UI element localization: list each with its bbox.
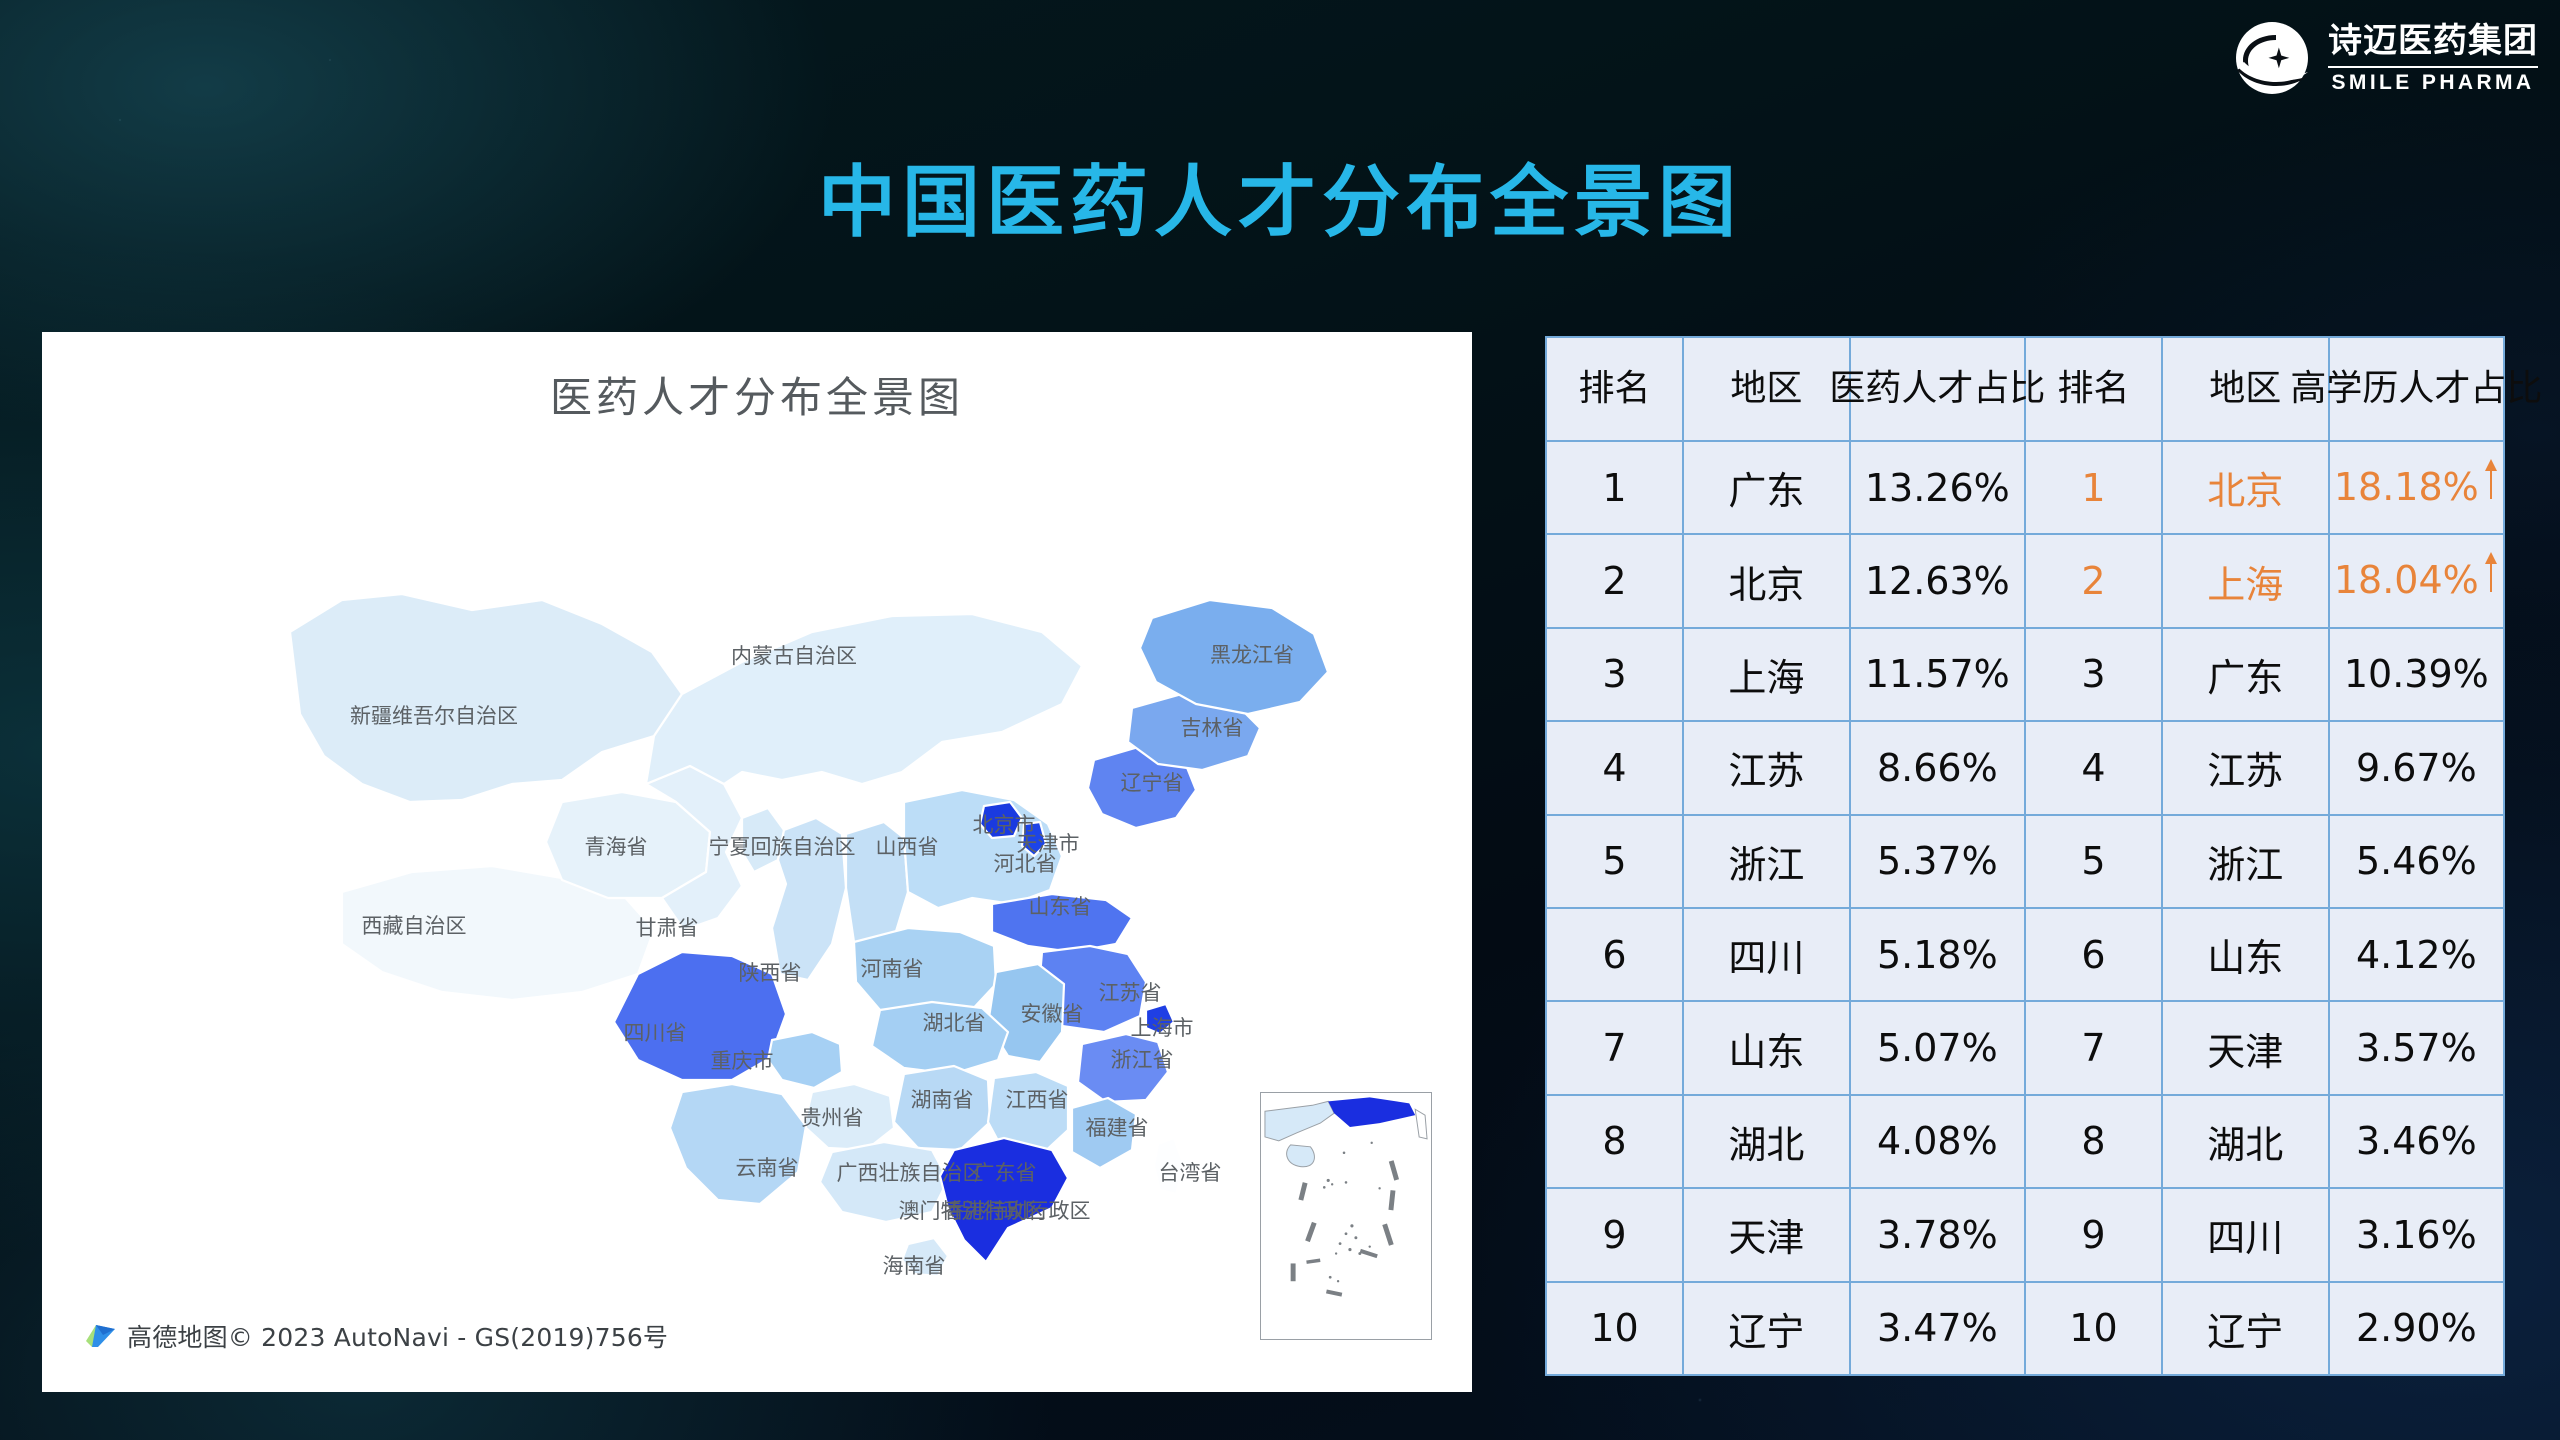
- attribution-text: 高德地图© 2023 AutoNavi - GS(2019)756号: [127, 1318, 668, 1354]
- cell-region-right: 天津: [2162, 1001, 2329, 1094]
- map-label-7: 陕西省: [739, 957, 802, 987]
- cell-region-left: 四川: [1683, 908, 1850, 1001]
- cell-pharma-share: 3.47%: [1850, 1282, 2025, 1375]
- map-attribution: 高德地图© 2023 AutoNavi - GS(2019)756号: [84, 1318, 668, 1354]
- cell-pharma-share: 3.78%: [1850, 1188, 2025, 1281]
- cell-region-left: 湖北: [1683, 1095, 1850, 1188]
- cell-highedu-share: 18.04%: [2329, 534, 2504, 627]
- brand-name-en: SMILE PHARMA: [2328, 72, 2538, 93]
- cell-rank-right: 1: [2025, 441, 2162, 534]
- cell-pharma-share: 11.57%: [1850, 628, 2025, 721]
- map-label-17: 湖北省: [923, 1007, 986, 1037]
- cell-rank-left: 7: [1546, 1001, 1683, 1094]
- table-row: 6四川5.18%6山东4.12%: [1546, 908, 2504, 1001]
- cell-region-right: 广东: [2162, 628, 2329, 721]
- cell-rank-left: 8: [1546, 1095, 1683, 1188]
- cell-rank-left: 4: [1546, 721, 1683, 814]
- cell-rank-right: 3: [2025, 628, 2162, 721]
- table-row: 8湖北4.08%8湖北3.46%: [1546, 1095, 2504, 1188]
- map-label-29: 香港特别行政区: [944, 1195, 1091, 1225]
- map-label-5: 宁夏回族自治区: [709, 831, 856, 861]
- cell-highedu-share: 9.67%: [2329, 721, 2504, 814]
- map-label-31: 辽宁省: [1121, 767, 1184, 797]
- map-label-4: 甘肃省: [636, 912, 699, 942]
- brand-name-cn: 诗迈医药集团: [2328, 23, 2538, 60]
- cell-region-right: 江苏: [2162, 721, 2329, 814]
- cell-highedu-share: 4.12%: [2329, 908, 2504, 1001]
- table-row: 9天津3.78%9四川3.16%: [1546, 1188, 2504, 1281]
- cell-region-right: 辽宁: [2162, 1282, 2329, 1375]
- cell-rank-right: 5: [2025, 815, 2162, 908]
- cell-highedu-share: 10.39%: [2329, 628, 2504, 721]
- china-choropleth-map[interactable]: 新疆维吾尔自治区西藏自治区青海省内蒙古自治区甘肃省宁夏回族自治区山西省陕西省河南…: [42, 332, 1472, 1392]
- map-label-21: 江西省: [1006, 1084, 1069, 1114]
- cell-rank-right: 2: [2025, 534, 2162, 627]
- south-china-sea-inset: [1260, 1092, 1432, 1340]
- cell-rank-right: 9: [2025, 1188, 2162, 1281]
- map-label-15: 上海市: [1131, 1012, 1194, 1042]
- cell-region-left: 江苏: [1683, 721, 1850, 814]
- map-label-13: 江苏省: [1099, 977, 1162, 1007]
- map-label-3: 内蒙古自治区: [731, 640, 857, 670]
- cell-rank-right: 6: [2025, 908, 2162, 1001]
- map-label-23: 贵州省: [801, 1102, 864, 1132]
- map-label-6: 山西省: [876, 831, 939, 861]
- cell-rank-left: 2: [1546, 534, 1683, 627]
- table-row: 7山东5.07%7天津3.57%: [1546, 1001, 2504, 1094]
- cell-rank-right: 7: [2025, 1001, 2162, 1094]
- map-label-1: 西藏自治区: [362, 910, 467, 940]
- cell-rank-right: 4: [2025, 721, 2162, 814]
- up-arrow-icon: [2483, 548, 2499, 594]
- map-svg: [42, 332, 1472, 1392]
- cell-pharma-share: 5.37%: [1850, 815, 2025, 908]
- cell-highedu-share: 18.18%: [2329, 441, 2504, 534]
- cell-pharma-share: 5.07%: [1850, 1001, 2025, 1094]
- table-row: 5浙江5.37%5浙江5.46%: [1546, 815, 2504, 908]
- ranking-table-wrap: 排名 地区 医药人才占比 排名 地区 高学历人才占比 1广东13.26%1北京1…: [1545, 336, 2505, 1376]
- map-label-16: 浙江省: [1111, 1044, 1174, 1074]
- up-arrow-icon: [2483, 455, 2499, 501]
- cell-highedu-share: 5.46%: [2329, 815, 2504, 908]
- cell-pharma-share: 4.08%: [1850, 1095, 2025, 1188]
- table-row: 3上海11.57%3广东10.39%: [1546, 628, 2504, 721]
- map-label-32: 吉林省: [1181, 712, 1244, 742]
- cell-highedu-share: 3.16%: [2329, 1188, 2504, 1281]
- header-rank-left: 排名: [1546, 337, 1683, 441]
- map-panel: 医药人才分布全景图: [42, 332, 1472, 1392]
- map-label-12: 山东省: [1029, 891, 1092, 921]
- header-rank-right: 排名: [2025, 337, 2162, 441]
- cell-region-left: 北京: [1683, 534, 1850, 627]
- map-label-26: 广东省: [974, 1157, 1037, 1187]
- cell-rank-left: 3: [1546, 628, 1683, 721]
- map-label-33: 黑龙江省: [1210, 639, 1294, 669]
- cell-rank-left: 5: [1546, 815, 1683, 908]
- cell-rank-left: 10: [1546, 1282, 1683, 1375]
- map-label-27: 台湾省: [1159, 1157, 1222, 1187]
- cell-region-right: 北京: [2162, 441, 2329, 534]
- map-label-0: 新疆维吾尔自治区: [350, 700, 518, 730]
- cell-pharma-share: 5.18%: [1850, 908, 2025, 1001]
- smile-pharma-circle-icon: [2232, 18, 2312, 98]
- header-region-left: 地区: [1683, 337, 1850, 441]
- autonavi-logo-icon: [84, 1321, 118, 1351]
- cell-region-right: 山东: [2162, 908, 2329, 1001]
- cell-rank-left: 9: [1546, 1188, 1683, 1281]
- cell-region-right: 浙江: [2162, 815, 2329, 908]
- table-body: 1广东13.26%1北京18.18%2北京12.63%2上海18.04%3上海1…: [1546, 441, 2504, 1375]
- brand-logo: 诗迈医药集团 SMILE PHARMA: [2232, 18, 2538, 98]
- cell-highedu-share: 2.90%: [2329, 1282, 2504, 1375]
- map-label-18: 四川省: [624, 1017, 687, 1047]
- ranking-table: 排名 地区 医药人才占比 排名 地区 高学历人才占比 1广东13.26%1北京1…: [1545, 336, 2505, 1376]
- cell-region-left: 上海: [1683, 628, 1850, 721]
- table-row: 2北京12.63%2上海18.04%: [1546, 534, 2504, 627]
- cell-region-left: 浙江: [1683, 815, 1850, 908]
- cell-rank-left: 6: [1546, 908, 1683, 1001]
- header-pharma-talent-share: 医药人才占比: [1850, 337, 2025, 441]
- cell-highedu-share: 3.46%: [2329, 1095, 2504, 1188]
- cell-highedu-share: 3.57%: [2329, 1001, 2504, 1094]
- cell-region-left: 广东: [1683, 441, 1850, 534]
- brand-divider: [2328, 66, 2538, 68]
- table-row: 10辽宁3.47%10辽宁2.90%: [1546, 1282, 2504, 1375]
- cell-region-right: 湖北: [2162, 1095, 2329, 1188]
- table-row: 4江苏8.66%4江苏9.67%: [1546, 721, 2504, 814]
- cell-region-right: 四川: [2162, 1188, 2329, 1281]
- cell-rank-left: 1: [1546, 441, 1683, 534]
- map-label-25: 广西壮族自治区: [837, 1157, 984, 1187]
- map-label-22: 福建省: [1086, 1112, 1149, 1142]
- page-title: 中国医药人才分布全景图: [0, 140, 2560, 252]
- header-highedu-talent-share: 高学历人才占比: [2329, 337, 2504, 441]
- cell-pharma-share: 8.66%: [1850, 721, 2025, 814]
- map-label-2: 青海省: [585, 831, 648, 861]
- cell-region-left: 辽宁: [1683, 1282, 1850, 1375]
- map-label-24: 云南省: [736, 1152, 799, 1182]
- table-row: 1广东13.26%1北京18.18%: [1546, 441, 2504, 534]
- cell-region-right: 上海: [2162, 534, 2329, 627]
- map-label-11: 天津市: [1017, 828, 1080, 858]
- map-label-19: 重庆市: [711, 1045, 774, 1075]
- cell-rank-right: 8: [2025, 1095, 2162, 1188]
- table-header-row: 排名 地区 医药人才占比 排名 地区 高学历人才占比: [1546, 337, 2504, 441]
- map-label-8: 河南省: [861, 953, 924, 983]
- cell-region-left: 山东: [1683, 1001, 1850, 1094]
- map-label-20: 湖南省: [911, 1084, 974, 1114]
- cell-pharma-share: 12.63%: [1850, 534, 2025, 627]
- cell-region-left: 天津: [1683, 1188, 1850, 1281]
- cell-rank-right: 10: [2025, 1282, 2162, 1375]
- map-label-14: 安徽省: [1021, 998, 1084, 1028]
- cell-pharma-share: 13.26%: [1850, 441, 2025, 534]
- map-label-30: 海南省: [883, 1250, 946, 1280]
